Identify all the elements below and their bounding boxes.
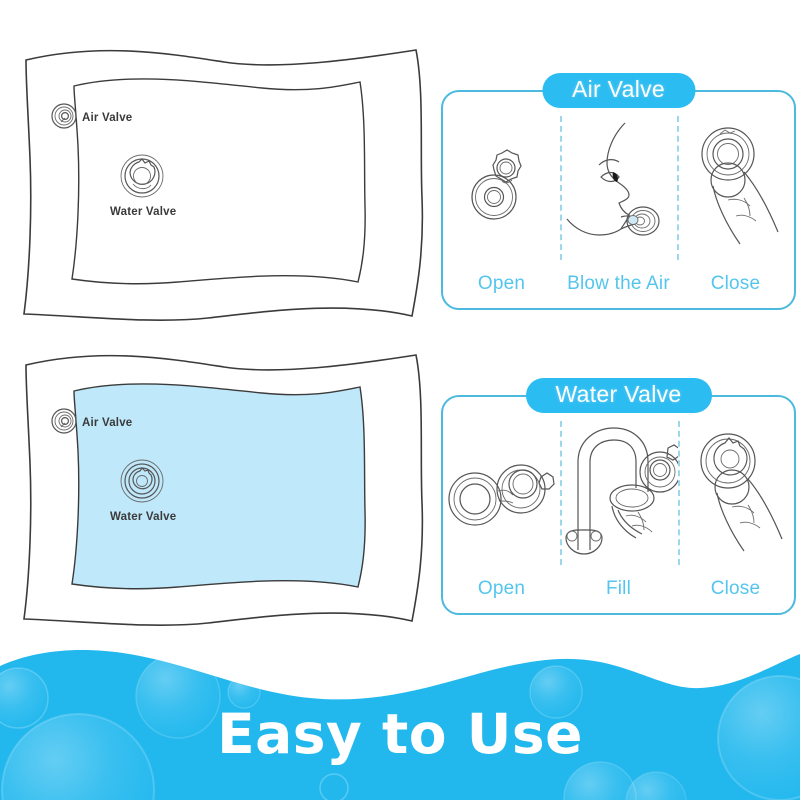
mat-diagram-empty: Air Valve Water Valve xyxy=(12,38,432,328)
water-valve-label: Water Valve xyxy=(110,511,176,523)
step-label-water-open: Open xyxy=(443,578,560,600)
step-air-close xyxy=(677,110,794,264)
finger-press-icon xyxy=(684,124,788,250)
step-label-air-close: Close xyxy=(677,273,794,295)
step-water-open xyxy=(443,415,560,569)
air-valve-label: Air Valve xyxy=(82,417,132,429)
wave-banner: Easy to Use xyxy=(0,630,800,800)
panel-water-valve: Water Valve xyxy=(441,395,796,615)
step-label-water-fill: Fill xyxy=(560,578,677,600)
step-label-water-close: Close xyxy=(677,578,794,600)
panel-title-water-valve: Water Valve xyxy=(525,378,711,413)
panel-body-water-valve xyxy=(443,415,794,569)
valve-cap-open-icon xyxy=(445,449,557,535)
step-air-open xyxy=(443,110,560,264)
infographic-stage: Air Valve Water Valve xyxy=(0,0,800,800)
air-valve-label: Air Valve xyxy=(82,112,132,124)
step-air-blow xyxy=(560,110,677,264)
panel-title-air-valve: Air Valve xyxy=(542,73,695,108)
faucet-fill-icon xyxy=(560,422,678,562)
air-valve-icon xyxy=(52,409,76,433)
water-valve-icon xyxy=(121,155,163,197)
step-label-air-open: Open xyxy=(443,273,560,295)
face-blowing-icon xyxy=(563,121,675,253)
panel-air-valve: Air Valve xyxy=(441,90,796,310)
air-valve-icon xyxy=(52,104,76,128)
step-water-close xyxy=(678,415,795,569)
panel-labels-air-valve: Open Blow the Air Close xyxy=(443,268,794,300)
finger-press-icon xyxy=(684,429,788,555)
step-label-air-blow: Blow the Air xyxy=(560,273,677,295)
panel-labels-water-valve: Open Fill Close xyxy=(443,573,794,605)
step-water-fill xyxy=(560,415,678,569)
water-valve-label: Water Valve xyxy=(110,206,176,218)
water-fill-area xyxy=(72,384,365,589)
valve-open-icon xyxy=(466,139,538,235)
mat-diagram-filled: Air Valve Water Valve xyxy=(12,343,432,633)
banner-title: Easy to Use xyxy=(0,702,800,766)
panel-body-air-valve xyxy=(443,110,794,264)
